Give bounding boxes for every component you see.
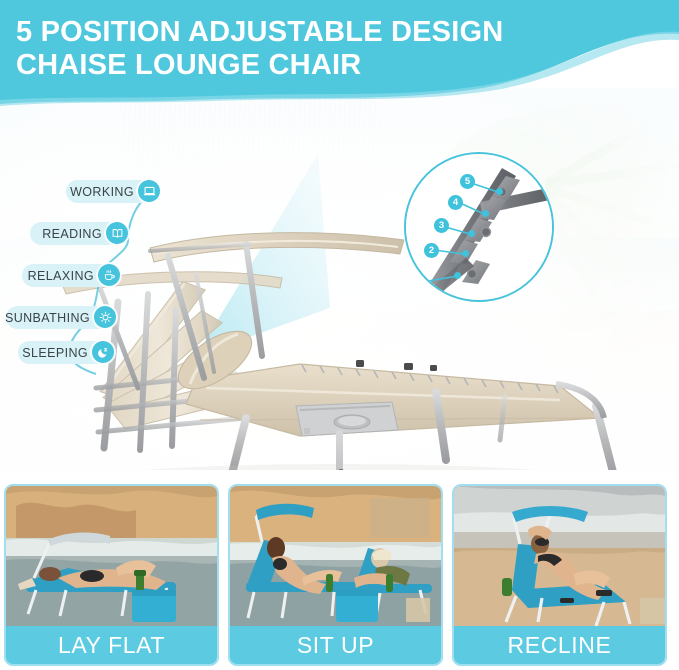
book-icon <box>106 222 128 244</box>
card-caption-recline: RECLINE <box>454 626 665 664</box>
card-photo-lay-flat <box>6 486 217 630</box>
position-cards: LAY FLAT <box>0 484 679 670</box>
callout-dot <box>468 230 475 237</box>
coffee-cup-icon <box>98 264 120 286</box>
card-caption-sit-up: SIT UP <box>230 626 441 664</box>
feature-label: READING <box>42 227 102 241</box>
title-line-1: 5 POSITION ADJUSTABLE DESIGN <box>16 16 656 49</box>
feature-label: WORKING <box>70 185 134 199</box>
title-line-2: CHAISE LOUNGE CHAIR <box>16 49 656 82</box>
laptop-icon <box>138 180 160 202</box>
card-lay-flat[interactable]: LAY FLAT <box>4 484 219 666</box>
caption-text: SIT UP <box>297 632 374 659</box>
callout-dot <box>454 272 461 279</box>
feature-label: SUNBATHING <box>5 311 90 325</box>
product-infographic: 1 2 3 4 5 WORKING READING RELAXING SUNBA… <box>0 0 679 670</box>
position-notch-magnifier: 1 2 3 4 5 <box>404 152 554 302</box>
header-banner: 5 POSITION ADJUSTABLE DESIGN CHAISE LOUN… <box>0 0 679 112</box>
card-photo-sit-up <box>230 486 441 630</box>
feature-label: RELAXING <box>28 269 94 283</box>
caption-text: RECLINE <box>508 632 612 659</box>
callout-number-5: 5 <box>460 174 475 189</box>
caption-text: LAY FLAT <box>58 632 165 659</box>
sun-icon <box>94 306 116 328</box>
callout-number-4: 4 <box>448 195 463 210</box>
moon-sleep-icon <box>92 341 114 363</box>
callout-dot <box>482 210 489 217</box>
callout-number-2: 2 <box>424 243 439 258</box>
callout-number-3: 3 <box>434 218 449 233</box>
card-caption-lay-flat: LAY FLAT <box>6 626 217 664</box>
card-photo-recline <box>454 486 665 630</box>
feature-label: SLEEPING <box>22 346 88 360</box>
support-pole <box>336 430 345 470</box>
header-titles: 5 POSITION ADJUSTABLE DESIGN CHAISE LOUN… <box>16 16 656 82</box>
callout-dot <box>496 188 503 195</box>
callout-dot <box>462 250 469 257</box>
callout-number-1: 1 <box>411 274 426 289</box>
card-recline[interactable]: RECLINE <box>452 484 667 666</box>
side-table <box>296 402 398 436</box>
card-sit-up[interactable]: SIT UP <box>228 484 443 666</box>
